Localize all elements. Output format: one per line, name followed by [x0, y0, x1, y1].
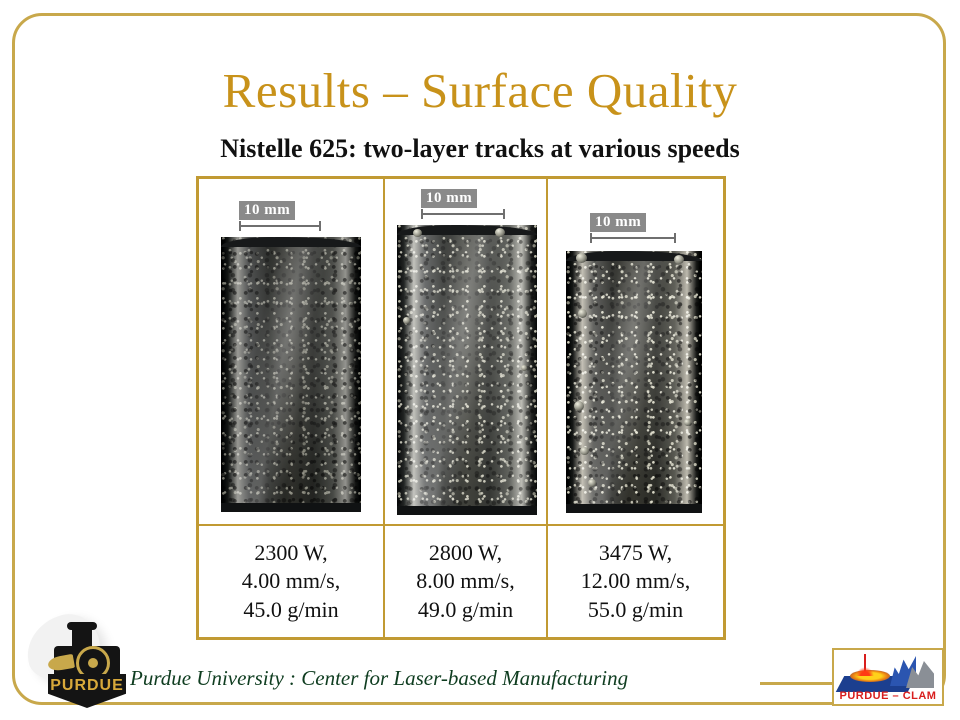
scale-bar-1: 10 mm — [239, 201, 321, 231]
specimen-cell-3: 10 mm — [548, 179, 723, 524]
scale-bar-label-1: 10 mm — [239, 201, 295, 220]
caption-power-2: 2800 W, — [429, 539, 502, 567]
caption-cell-1: 2300 W, 4.00 mm/s, 45.0 g/min — [199, 526, 383, 637]
scale-bar-2: 10 mm — [421, 189, 505, 219]
slide: Results – Surface Quality Nistelle 625: … — [0, 0, 960, 720]
scale-bar-graphic-1 — [239, 221, 321, 231]
specimen-photo-3 — [566, 251, 702, 513]
scale-bar-label-3: 10 mm — [590, 213, 646, 232]
caption-cell-3: 3475 W, 12.00 mm/s, 55.0 g/min — [548, 526, 723, 637]
table-caption-row: 2300 W, 4.00 mm/s, 45.0 g/min 2800 W, 8.… — [199, 524, 723, 637]
caption-power-1: 2300 W, — [254, 539, 327, 567]
caption-feed-3: 55.0 g/min — [588, 596, 683, 624]
specimen-cell-1: 10 mm — [199, 179, 383, 524]
caption-cell-2: 2800 W, 8.00 mm/s, 49.0 g/min — [383, 526, 548, 637]
caption-speed-3: 12.00 mm/s, — [581, 567, 690, 595]
scale-bar-3: 10 mm — [590, 213, 676, 243]
purdue-clam-logo: PURDUE – CLAM — [832, 648, 944, 706]
purdue-shield: PURDUE — [48, 674, 126, 708]
laser-spark-icon — [856, 667, 874, 676]
scale-bar-graphic-3 — [590, 233, 676, 243]
caption-speed-1: 4.00 mm/s, — [242, 567, 340, 595]
specimen-photo-2 — [397, 225, 537, 515]
scale-bar-graphic-2 — [421, 209, 505, 219]
caption-feed-2: 49.0 g/min — [418, 596, 513, 624]
purdue-wordmark: PURDUE — [50, 677, 124, 695]
clam-wordmark: PURDUE – CLAM — [834, 690, 942, 702]
results-table: 10 mm 10 mm — [196, 176, 726, 640]
caption-speed-2: 8.00 mm/s, — [416, 567, 514, 595]
specimen-cell-2: 10 mm — [383, 179, 548, 524]
caption-feed-1: 45.0 g/min — [243, 596, 338, 624]
scale-bar-label-2: 10 mm — [421, 189, 477, 208]
footer-text: Purdue University : Center for Laser-bas… — [130, 666, 770, 691]
page-title: Results – Surface Quality — [0, 62, 960, 119]
specimen-photo-1 — [221, 237, 361, 512]
page-subtitle: Nistelle 625: two-layer tracks at variou… — [0, 134, 960, 164]
smokestack-cap — [67, 622, 97, 630]
purdue-train-logo: PURDUE — [24, 600, 136, 708]
table-image-row: 10 mm 10 mm — [199, 179, 723, 524]
caption-power-3: 3475 W, — [599, 539, 672, 567]
